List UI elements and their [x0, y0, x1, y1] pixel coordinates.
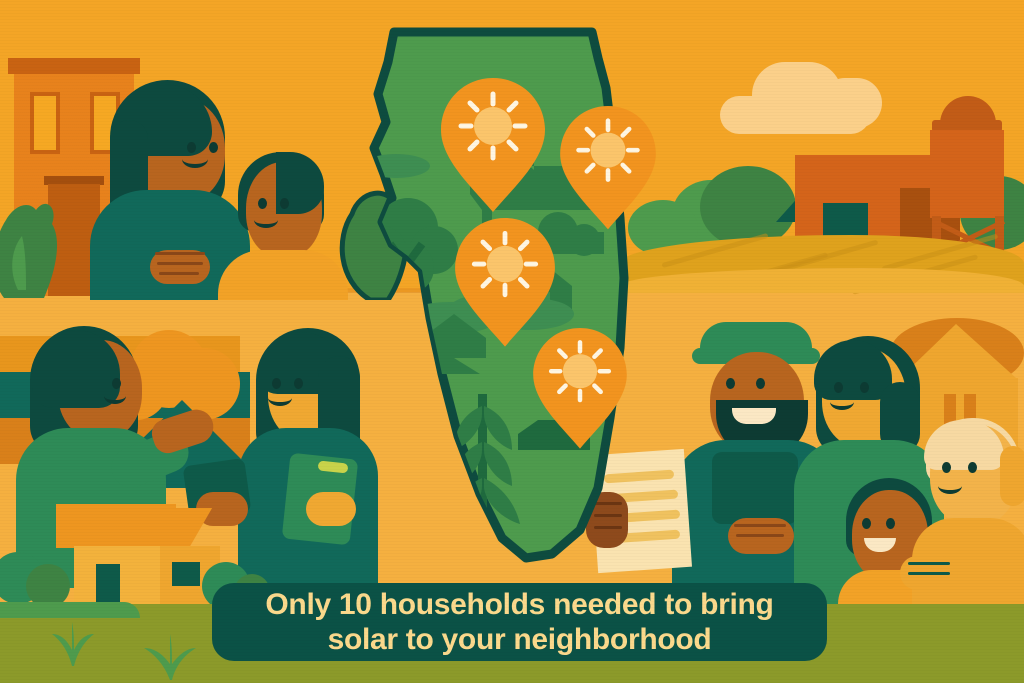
grass-tuft-1 — [48, 622, 96, 666]
farmer-hand-line-1 — [734, 524, 786, 527]
elder-hand-line-1 — [908, 562, 950, 565]
elder-eye-right — [968, 462, 977, 473]
woman3-smile — [268, 390, 292, 406]
woman-smile — [182, 150, 208, 168]
woman4-eye-left — [834, 382, 843, 393]
woman4-smile — [830, 394, 854, 410]
woman-hand-line-2 — [157, 262, 203, 265]
boy-torso — [218, 250, 348, 300]
building-window-left — [30, 92, 60, 154]
illustration-canvas: Only 10 households needed to bring solar… — [0, 0, 1024, 683]
woman-hand-line-1 — [155, 252, 205, 255]
caption-text: Only 10 households needed to bring solar… — [247, 587, 791, 657]
boy-smile — [254, 212, 278, 228]
elder-shoulder-arm — [1000, 446, 1024, 506]
caption-banner: Only 10 households needed to bring solar… — [212, 583, 827, 661]
grass-tuft-2 — [142, 634, 198, 680]
woman3-eye-left — [272, 378, 281, 389]
farmer-overall-bib — [712, 452, 798, 524]
woman-hand — [150, 250, 210, 284]
boy2-eye-left — [862, 518, 871, 529]
woman4-eye-right — [860, 382, 869, 393]
woman-hand-line-3 — [159, 272, 199, 275]
boy-eye-left — [258, 198, 267, 209]
boy2-eye-right — [886, 518, 895, 529]
woman3-eye-right — [294, 378, 303, 389]
farmer-hand-line-2 — [736, 534, 784, 537]
building-cornice — [8, 58, 140, 74]
elder-smile — [938, 478, 962, 494]
elder-eye-left — [942, 462, 951, 473]
farmer-eye-left — [726, 378, 735, 389]
house-window — [172, 562, 200, 586]
water-tower-tank — [930, 130, 1004, 218]
grass-ridge-left — [0, 602, 140, 618]
shrub-left-icon — [0, 538, 70, 610]
cloud-puff-right — [820, 78, 882, 128]
farmer-eye-right — [756, 378, 765, 389]
illinois-map — [330, 18, 690, 570]
woman-eye-right — [209, 142, 218, 153]
woman2-smile — [104, 388, 126, 404]
boy-eye-right — [280, 198, 289, 209]
farmer-smile — [732, 408, 776, 424]
shrub-icon — [0, 178, 62, 298]
elder-hand-line-2 — [908, 572, 950, 575]
